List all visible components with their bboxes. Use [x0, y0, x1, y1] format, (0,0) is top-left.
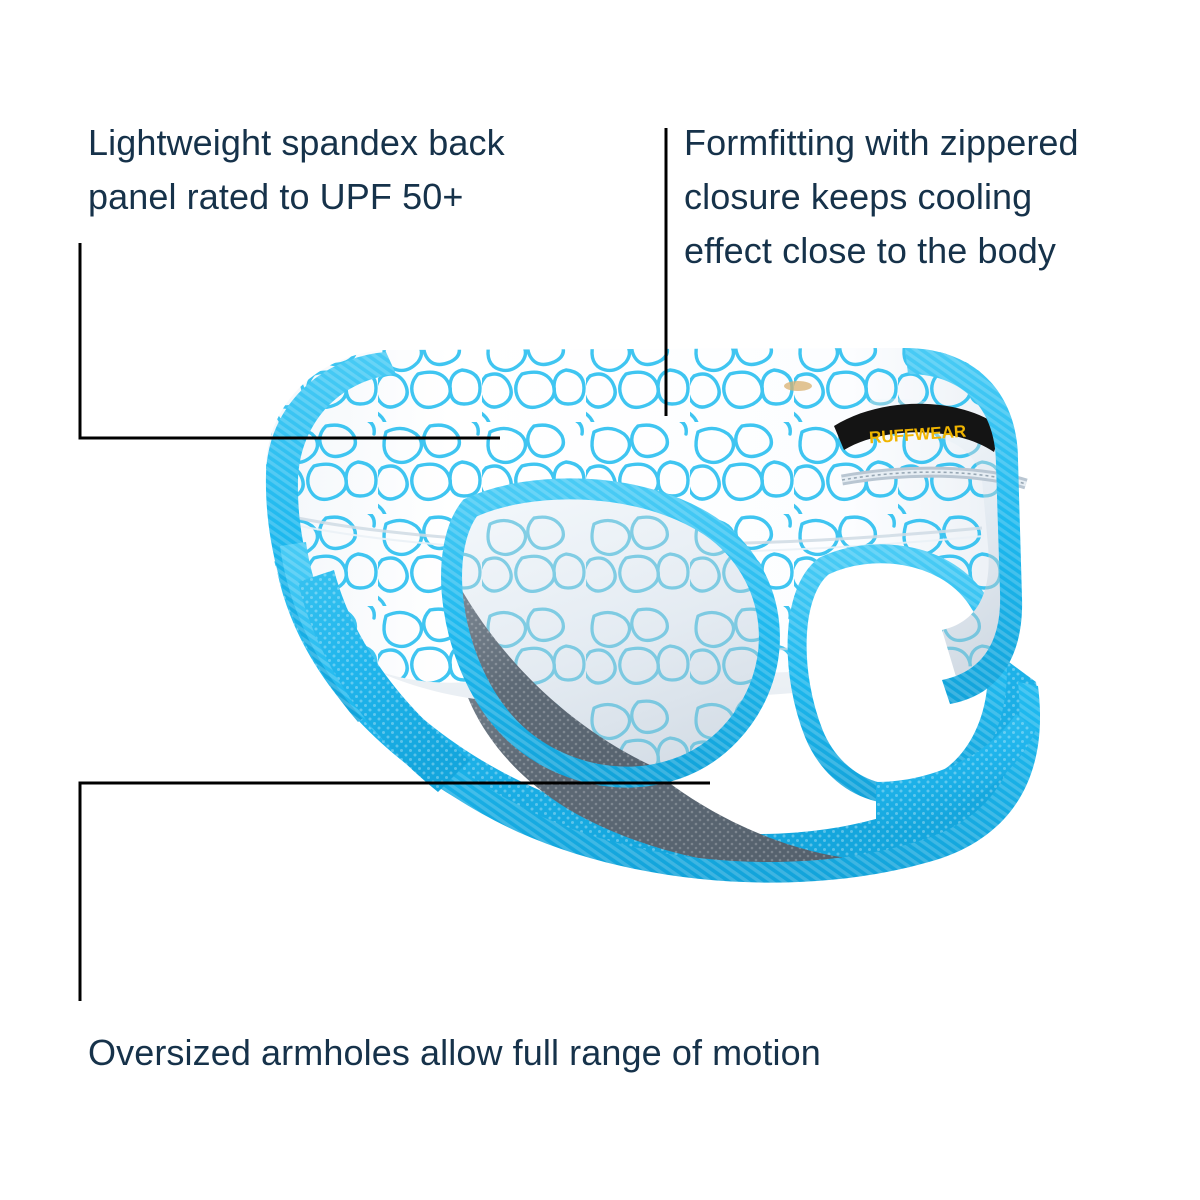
hardware-accent [784, 381, 812, 391]
callout-back-panel: Lightweight spandex back panel rated to … [88, 116, 648, 224]
product-feature-diagram: RUFFWEAR [0, 0, 1200, 1200]
callout-zipper-closure: Formfitting with zippered closure keeps … [684, 116, 1184, 278]
callout-oversized-armholes: Oversized armholes allow full range of m… [88, 1026, 1028, 1080]
product-illustration: RUFFWEAR [170, 330, 1040, 905]
